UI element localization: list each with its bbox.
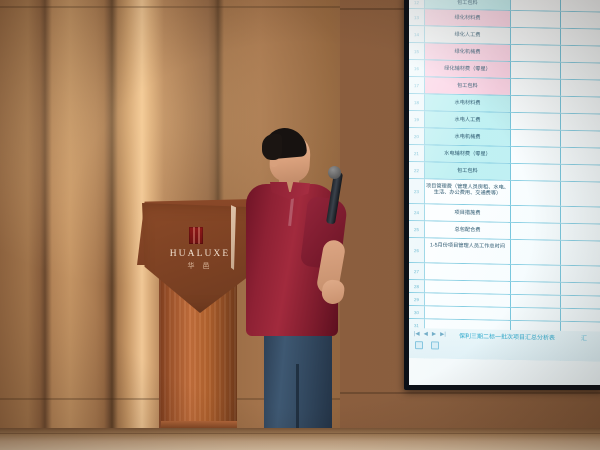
row-number: 23	[409, 179, 425, 203]
cell-value-a[interactable]	[511, 0, 561, 11]
lectern: HUALUXE 华 邑	[137, 199, 263, 439]
first-sheet-icon[interactable]: |◀	[414, 331, 420, 337]
spreadsheet-rows: 12包工包料13绿化材料费14绿化人工费15绿化机械费16绿化辅材费（零星）17…	[409, 0, 600, 375]
cell-value-a[interactable]	[511, 147, 561, 164]
cell-item-name[interactable]: 包工包料	[425, 77, 511, 95]
cell-value-a[interactable]	[511, 96, 561, 113]
row-number: 21	[409, 145, 425, 161]
cell-item-name[interactable]: 水电辅材费（零星）	[425, 145, 511, 163]
cell-item-name[interactable]: 总包配合费	[425, 221, 511, 239]
cell-item-name[interactable]: 绿化辅材费（零星）	[425, 60, 511, 78]
cell-item-name[interactable]: 水电人工费	[425, 111, 511, 129]
status-bar	[409, 358, 600, 385]
cell-value-b[interactable]	[561, 224, 600, 241]
cell-value-b[interactable]	[561, 46, 600, 63]
cell-value-a[interactable]	[511, 11, 561, 28]
cell-value-a[interactable]	[511, 240, 561, 265]
next-sheet-icon[interactable]: ▶	[432, 331, 436, 337]
cell-value-b[interactable]	[561, 207, 600, 224]
projection-screen: 12包工包料13绿化材料费14绿化人工费15绿化机械费16绿化辅材费（零星）17…	[409, 0, 600, 385]
cell-value-b[interactable]	[561, 241, 600, 266]
row-number: 27	[409, 263, 425, 279]
row-number: 12	[409, 0, 425, 8]
cell-value-b[interactable]	[561, 12, 600, 29]
floor	[0, 428, 600, 450]
add-sheet-icon[interactable]	[415, 341, 423, 349]
sheet-toolbar-icons[interactable]	[415, 341, 439, 349]
cell-value-a[interactable]	[511, 28, 561, 45]
cell-value-b[interactable]	[561, 165, 600, 182]
row-number: 18	[409, 94, 425, 110]
presenter	[246, 128, 356, 450]
row-number: 26	[409, 238, 425, 262]
cell-value-a[interactable]	[511, 206, 561, 223]
cell-value-b[interactable]	[561, 0, 600, 12]
cell-item-name[interactable]: 项目管理费（管理人员房租、水电、生活、办公费用、交通费等）	[425, 179, 511, 205]
cell-value-b[interactable]	[561, 148, 600, 165]
cell-value-b[interactable]	[561, 309, 600, 322]
cell-value-a[interactable]	[511, 223, 561, 240]
cell-item-name[interactable]	[425, 263, 511, 281]
cell-value-a[interactable]	[511, 181, 561, 206]
presentation-photo: 12包工包料13绿化材料费14绿化人工费15绿化机械费16绿化辅材费（零星）17…	[0, 0, 600, 450]
row-number: 29	[409, 293, 425, 305]
table-row[interactable]: 23项目管理费（管理人员房租、水电、生活、办公费用、交通费等）	[409, 179, 600, 208]
cell-value-b[interactable]	[561, 29, 600, 46]
cell-item-name[interactable]: 绿化人工费	[425, 26, 511, 44]
sheet-nav-buttons[interactable]: |◀ ◀ ▶ ▶|	[414, 331, 446, 338]
cell-value-b[interactable]	[561, 296, 600, 309]
cell-value-b[interactable]	[561, 114, 600, 131]
row-number: 15	[409, 43, 425, 59]
cell-value-a[interactable]	[511, 113, 561, 130]
last-sheet-icon[interactable]: ▶|	[440, 332, 446, 338]
cell-value-a[interactable]	[511, 265, 561, 282]
row-number: 24	[409, 204, 425, 220]
lectern-brand-latin: HUALUXE	[137, 249, 263, 259]
cell-item-name[interactable]: 项目措施费	[425, 204, 511, 222]
cell-value-b[interactable]	[561, 80, 600, 97]
cell-value-a[interactable]	[511, 164, 561, 181]
row-number: 13	[409, 9, 425, 25]
cell-value-a[interactable]	[511, 308, 561, 321]
cell-value-b[interactable]	[561, 97, 600, 114]
row-number: 28	[409, 280, 425, 292]
cell-value-a[interactable]	[511, 282, 561, 295]
sheet-list-icon[interactable]	[431, 341, 439, 349]
cell-value-b[interactable]	[561, 63, 600, 80]
cell-item-name[interactable]	[425, 293, 511, 307]
cell-item-name[interactable]: 包工包料	[425, 0, 511, 10]
row-number: 22	[409, 162, 425, 178]
row-number: 14	[409, 26, 425, 42]
cell-value-b[interactable]	[561, 182, 600, 207]
cell-item-name[interactable]: 水电材料费	[425, 94, 511, 112]
cell-item-name[interactable]: 绿化机械费	[425, 43, 511, 61]
cell-value-b[interactable]	[561, 266, 600, 283]
floor-skirting-line	[0, 433, 600, 434]
lectern-front-panel: HUALUXE 华 邑	[137, 203, 263, 313]
row-number: 19	[409, 111, 425, 127]
wall-seam-right	[340, 392, 600, 394]
cell-item-name[interactable]: 1-5月份项目管理人员工作总时间	[425, 238, 511, 264]
cell-value-a[interactable]	[511, 62, 561, 79]
row-number: 17	[409, 77, 425, 93]
cell-item-name[interactable]: 包工包料	[425, 162, 511, 180]
cell-value-a[interactable]	[511, 45, 561, 62]
cell-value-a[interactable]	[511, 79, 561, 96]
sheet-tab-bar[interactable]: |◀ ◀ ▶ ▶| 保利三期二标一批次项目汇总分析表 汇	[409, 328, 600, 362]
cell-item-name[interactable]	[425, 280, 511, 294]
row-number: 25	[409, 221, 425, 237]
cell-item-name[interactable]: 水电机械费	[425, 128, 511, 146]
spreadsheet-grid: 12包工包料13绿化材料费14绿化人工费15绿化机械费16绿化辅材费（零星）17…	[409, 0, 600, 340]
row-number: 30	[409, 306, 425, 318]
row-number: 16	[409, 60, 425, 76]
lectern-brand-chinese: 华 邑	[137, 261, 263, 271]
sheet-tab-next[interactable]: 汇	[581, 333, 599, 342]
cell-value-a[interactable]	[511, 130, 561, 147]
table-row[interactable]: 261-5月份项目管理人员工作总时间	[409, 238, 600, 267]
cell-value-a[interactable]	[511, 295, 561, 308]
cell-item-name[interactable]	[425, 306, 511, 320]
presenter-hair-side	[262, 134, 282, 160]
cell-item-name[interactable]: 绿化材料费	[425, 9, 511, 27]
prev-sheet-icon[interactable]: ◀	[424, 331, 428, 337]
cell-value-b[interactable]	[561, 131, 600, 148]
cell-value-b[interactable]	[561, 283, 600, 296]
row-number: 20	[409, 128, 425, 144]
hualuxe-seal-icon	[189, 227, 203, 244]
sheet-tab-active[interactable]: 保利三期二标一批次项目汇总分析表	[459, 331, 555, 342]
